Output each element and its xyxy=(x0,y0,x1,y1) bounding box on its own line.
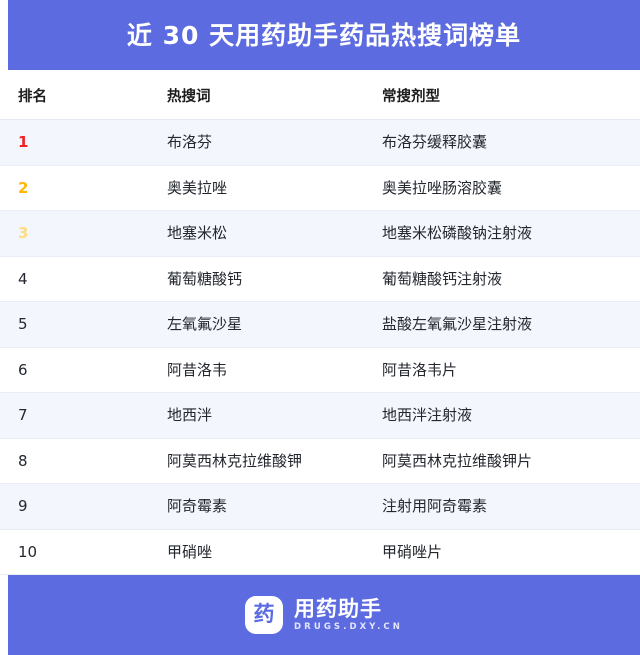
table-row: 2奥美拉唑奥美拉唑肠溶胶囊 xyxy=(0,165,640,211)
cell-rank: 2 xyxy=(0,165,165,211)
rank-number: 1 xyxy=(18,133,28,151)
cell-search-term: 阿莫西林克拉维酸钾 xyxy=(165,438,380,484)
rank-number: 8 xyxy=(18,452,28,470)
table-header: 排名 热搜词 常搜剂型 xyxy=(0,70,640,120)
cell-dosage-form: 奥美拉唑肠溶胶囊 xyxy=(380,165,640,211)
table-row: 4葡萄糖酸钙葡萄糖酸钙注射液 xyxy=(0,256,640,302)
rank-number: 3 xyxy=(18,224,28,242)
column-header-form: 常搜剂型 xyxy=(380,70,640,120)
brand-text: 用药助手 DRUGS.DXY.CN xyxy=(294,599,403,632)
rank-number: 7 xyxy=(18,406,28,424)
cell-rank: 1 xyxy=(0,120,165,166)
cell-search-term: 甲硝唑 xyxy=(165,529,380,575)
cell-search-term: 葡萄糖酸钙 xyxy=(165,256,380,302)
table-row: 7地西泮地西泮注射液 xyxy=(0,393,640,439)
column-header-term: 热搜词 xyxy=(165,70,380,120)
rank-number: 4 xyxy=(18,270,28,288)
cell-search-term: 地西泮 xyxy=(165,393,380,439)
cell-rank: 3 xyxy=(0,211,165,257)
table-row: 10甲硝唑甲硝唑片 xyxy=(0,529,640,575)
cell-search-term: 布洛芬 xyxy=(165,120,380,166)
cell-dosage-form: 地塞米松磷酸钠注射液 xyxy=(380,211,640,257)
cell-rank: 10 xyxy=(0,529,165,575)
rank-number: 2 xyxy=(18,179,28,197)
ranking-table-container: 排名 热搜词 常搜剂型 1布洛芬布洛芬缓释胶囊2奥美拉唑奥美拉唑肠溶胶囊3地塞米… xyxy=(0,70,640,575)
cell-rank: 8 xyxy=(0,438,165,484)
cell-dosage-form: 地西泮注射液 xyxy=(380,393,640,439)
cell-dosage-form: 阿昔洛韦片 xyxy=(380,347,640,393)
cell-search-term: 阿昔洛韦 xyxy=(165,347,380,393)
cell-rank: 4 xyxy=(0,256,165,302)
table-row: 1布洛芬布洛芬缓释胶囊 xyxy=(0,120,640,166)
ranking-infographic: 近 30 天用药助手药品热搜词榜单 排名 热搜词 常搜剂型 1布洛芬布洛芬缓释胶… xyxy=(0,0,640,572)
cell-search-term: 地塞米松 xyxy=(165,211,380,257)
rank-number: 9 xyxy=(18,497,28,515)
medicine-logo-icon: 药 xyxy=(245,596,283,634)
page-title: 近 30 天用药助手药品热搜词榜单 xyxy=(127,23,521,48)
cell-rank: 7 xyxy=(0,393,165,439)
cell-dosage-form: 甲硝唑片 xyxy=(380,529,640,575)
table-row: 3地塞米松地塞米松磷酸钠注射液 xyxy=(0,211,640,257)
cell-dosage-form: 注射用阿奇霉素 xyxy=(380,484,640,530)
table-row: 6阿昔洛韦阿昔洛韦片 xyxy=(0,347,640,393)
footer-branding-bar: 药 用药助手 DRUGS.DXY.CN xyxy=(8,575,640,655)
cell-dosage-form: 盐酸左氧氟沙星注射液 xyxy=(380,302,640,348)
cell-dosage-form: 布洛芬缓释胶囊 xyxy=(380,120,640,166)
cell-dosage-form: 阿莫西林克拉维酸钾片 xyxy=(380,438,640,484)
rank-number: 6 xyxy=(18,361,28,379)
brand-name-cn: 用药助手 xyxy=(294,599,403,620)
table-row: 8阿莫西林克拉维酸钾阿莫西林克拉维酸钾片 xyxy=(0,438,640,484)
logo-glyph: 药 xyxy=(254,604,275,625)
cell-search-term: 左氧氟沙星 xyxy=(165,302,380,348)
cell-rank: 9 xyxy=(0,484,165,530)
table-row: 9阿奇霉素注射用阿奇霉素 xyxy=(0,484,640,530)
cell-search-term: 奥美拉唑 xyxy=(165,165,380,211)
rank-number: 10 xyxy=(18,543,37,561)
cell-rank: 6 xyxy=(0,347,165,393)
ranking-table: 排名 热搜词 常搜剂型 1布洛芬布洛芬缓释胶囊2奥美拉唑奥美拉唑肠溶胶囊3地塞米… xyxy=(0,70,640,575)
header-banner: 近 30 天用药助手药品热搜词榜单 xyxy=(8,0,640,70)
rank-number: 5 xyxy=(18,315,28,333)
cell-dosage-form: 葡萄糖酸钙注射液 xyxy=(380,256,640,302)
cell-search-term: 阿奇霉素 xyxy=(165,484,380,530)
brand-domain: DRUGS.DXY.CN xyxy=(294,623,403,632)
brand-logo: 药 用药助手 DRUGS.DXY.CN xyxy=(245,596,403,634)
table-row: 5左氧氟沙星盐酸左氧氟沙星注射液 xyxy=(0,302,640,348)
table-body: 1布洛芬布洛芬缓释胶囊2奥美拉唑奥美拉唑肠溶胶囊3地塞米松地塞米松磷酸钠注射液4… xyxy=(0,120,640,575)
cell-rank: 5 xyxy=(0,302,165,348)
table-header-row: 排名 热搜词 常搜剂型 xyxy=(0,70,640,120)
column-header-rank: 排名 xyxy=(0,70,165,120)
